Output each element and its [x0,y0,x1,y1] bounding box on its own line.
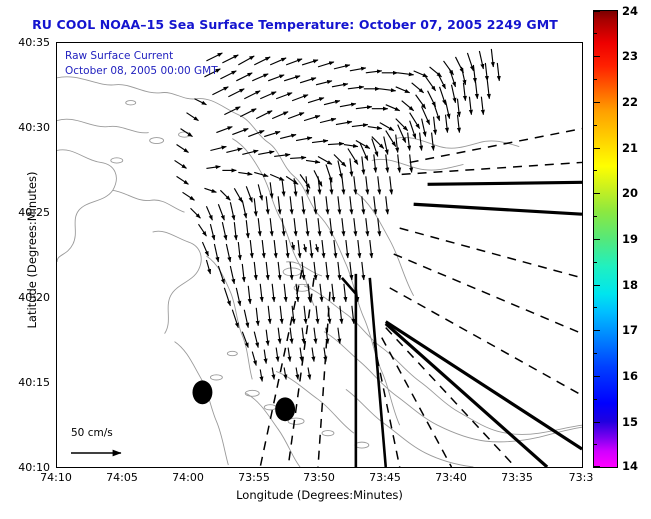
colorbar-tick [593,376,600,377]
xtick-label: 73:55 [227,471,281,484]
colorbar-label: 15 [622,415,638,429]
sst-surface-current-figure: RU COOL NOAA–15 Sea Surface Temperature:… [0,0,651,519]
colorbar-label: 24 [622,4,638,18]
colorbar-tick [593,422,600,423]
colorbar-label: 19 [622,232,638,246]
colorbar-label: 22 [622,95,638,109]
velocity-scale-label: 50 cm/s [71,427,113,439]
colorbar-minor-tick [593,216,597,217]
map-vector-field [57,43,582,467]
xtick-label: 73:50 [292,471,346,484]
colorbar-minor-tick [593,307,597,308]
colorbar-minor-tick [593,399,597,400]
xtick-label: 73:35 [490,471,544,484]
colorbar-label: 18 [622,278,638,292]
colorbar-minor-tick [593,79,597,80]
colorbar-minor-tick [593,353,597,354]
colorbar-minor-tick [593,262,597,263]
velocity-scale-legend: 50 cm/s [65,427,185,463]
xtick-label: 73:3 [554,471,608,484]
map-plot-area: Raw Surface Current October 08, 2005 00:… [56,42,583,468]
ytick-label: 40:15 [2,376,50,389]
coastline-contours [57,77,582,467]
xtick-label: 73:45 [358,471,412,484]
colorbar-label: 23 [622,49,638,63]
colorbar-label: 17 [622,323,638,337]
colorbar-tick [593,239,600,240]
colorbar-minor-tick [593,125,597,126]
ytick-label: 40:35 [2,36,50,49]
colorbar-tick [593,102,600,103]
colorbar-tick [593,11,600,12]
colorbar-tick [593,148,600,149]
east-arrow-icon [65,441,185,467]
colorbar-tick [593,285,600,286]
colorbar-tick [593,330,600,331]
station-markers [192,380,295,421]
colorbar-label: 16 [622,369,638,383]
y-axis-title: Latitude (Degrees:Minutes) [25,140,39,360]
xtick-label: 74:00 [161,471,215,484]
ytick-label: 40:10 [2,461,50,474]
colorbar-label: 20 [622,186,638,200]
colorbar-tick [593,56,600,57]
colorbar-minor-tick [593,444,597,445]
colorbar-label: 21 [622,141,638,155]
ytick-label: 40:30 [2,121,50,134]
colorbar-label: 14 [622,459,638,473]
current-vectors [175,49,500,381]
colorbar-tick [593,466,600,467]
colorbar-tick [593,193,600,194]
xtick-label: 74:05 [95,471,149,484]
figure-title: RU COOL NOAA–15 Sea Surface Temperature:… [0,17,590,32]
x-axis-title: Longitude (Degrees:Minutes) [56,488,583,502]
colorbar-minor-tick [593,33,597,34]
colorbar-minor-tick [593,170,597,171]
xtick-label: 73:40 [424,471,478,484]
radar-solid-radials [342,182,582,467]
